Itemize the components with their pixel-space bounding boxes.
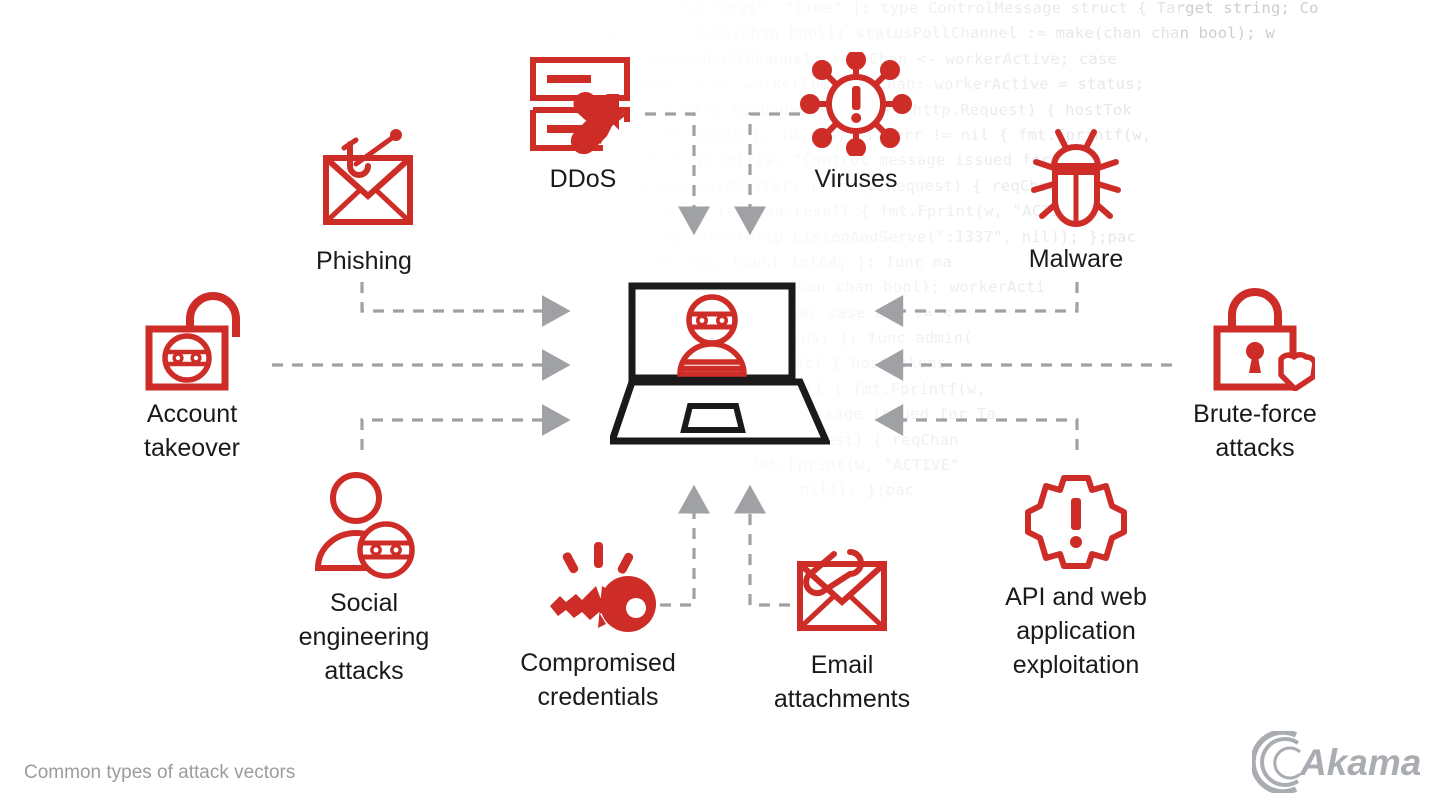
code-line: allChannel := make(chan bool); statusPol… <box>500 21 1440 46</box>
code-line: if <- reqChan.result { fmt.Fprint(w, "AC… <box>500 199 1440 224</box>
code-line: "strings" "time" ]; type ControlMessage … <box>500 0 1440 21</box>
node-ddos[interactable]: DDoS <box>490 52 676 196</box>
virus-alert-icon <box>800 52 912 156</box>
api-web-exploitation-glyph <box>972 470 1180 574</box>
ddos-glyph <box>490 52 676 156</box>
node-malware[interactable]: Malware <box>996 124 1156 276</box>
node-label-viruses: Viruses <box>768 162 944 196</box>
figure-caption: Common types of attack vectors <box>24 762 295 784</box>
viruses-glyph <box>768 52 944 156</box>
padlock-hand-icon <box>1195 285 1315 391</box>
phishing-glyph <box>286 126 442 238</box>
node-label-malware: Malware <box>996 242 1156 276</box>
node-account-takeover[interactable]: Account takeover <box>104 285 280 465</box>
code-line: log.Fatal(http.ListenAndServe(":1337", n… <box>500 225 1440 250</box>
arrow-api-to-center <box>900 420 1077 450</box>
server-bomb-icon <box>521 52 645 156</box>
target-laptop[interactable] <box>610 278 830 463</box>
email-attachments-glyph <box>752 542 932 642</box>
arrow-malware-to-center <box>900 282 1077 311</box>
social-engineering-glyph <box>272 470 456 580</box>
node-phishing[interactable]: Phishing <box>286 126 442 278</box>
broken-key-icon <box>536 540 660 640</box>
envelope-paperclip-icon <box>786 542 898 642</box>
node-label-brute-force: Brute-force attacks <box>1160 397 1350 465</box>
burst-alert-icon <box>1020 470 1132 574</box>
code-line: nil)); };pac <box>500 478 1440 503</box>
malware-glyph <box>996 124 1156 236</box>
node-brute-force[interactable]: Brute-force attacks <box>1160 285 1350 465</box>
node-email-attachments[interactable]: Email attachments <box>752 542 932 716</box>
node-label-compromised-credentials: Compromised credentials <box>488 646 708 714</box>
diagram-canvas: "strings" "time" ]; type ControlMessage … <box>0 0 1440 810</box>
phishing-envelope-hook-icon <box>304 126 424 238</box>
person-mask-icon <box>308 470 420 580</box>
code-line: Target string; Count int64; }; func ma <box>500 250 1440 275</box>
arrow-phishing-to-center <box>362 282 545 311</box>
laptop-with-hacker-icon <box>610 278 830 458</box>
account-takeover-glyph <box>104 285 280 391</box>
node-compromised-credentials[interactable]: Compromised credentials <box>488 540 708 714</box>
akamai-wordmark: Akamai <box>1299 742 1420 783</box>
akamai-logo: Akamai <box>1252 731 1420 793</box>
bug-icon <box>1024 124 1128 236</box>
arrow-social-to-center <box>362 420 545 450</box>
node-viruses[interactable]: Viruses <box>768 52 944 196</box>
node-label-ddos: DDoS <box>490 162 676 196</box>
node-label-api-web-exploitation: API and web application exploitation <box>972 580 1180 682</box>
brute-force-glyph <box>1160 285 1350 391</box>
unlocked-padlock-mask-icon <box>135 285 249 391</box>
akamai-logo-mark: Akamai <box>1252 731 1420 793</box>
node-label-social-engineering: Social engineering attacks <box>272 586 456 688</box>
node-api-web-exploitation[interactable]: API and web application exploitation <box>972 470 1180 682</box>
node-label-email-attachments: Email attachments <box>752 648 932 716</box>
node-social-engineering[interactable]: Social engineering attacks <box>272 470 456 688</box>
node-label-account-takeover: Account takeover <box>104 397 280 465</box>
compromised-credentials-glyph <box>488 540 708 640</box>
node-label-phishing: Phishing <box>286 244 442 278</box>
